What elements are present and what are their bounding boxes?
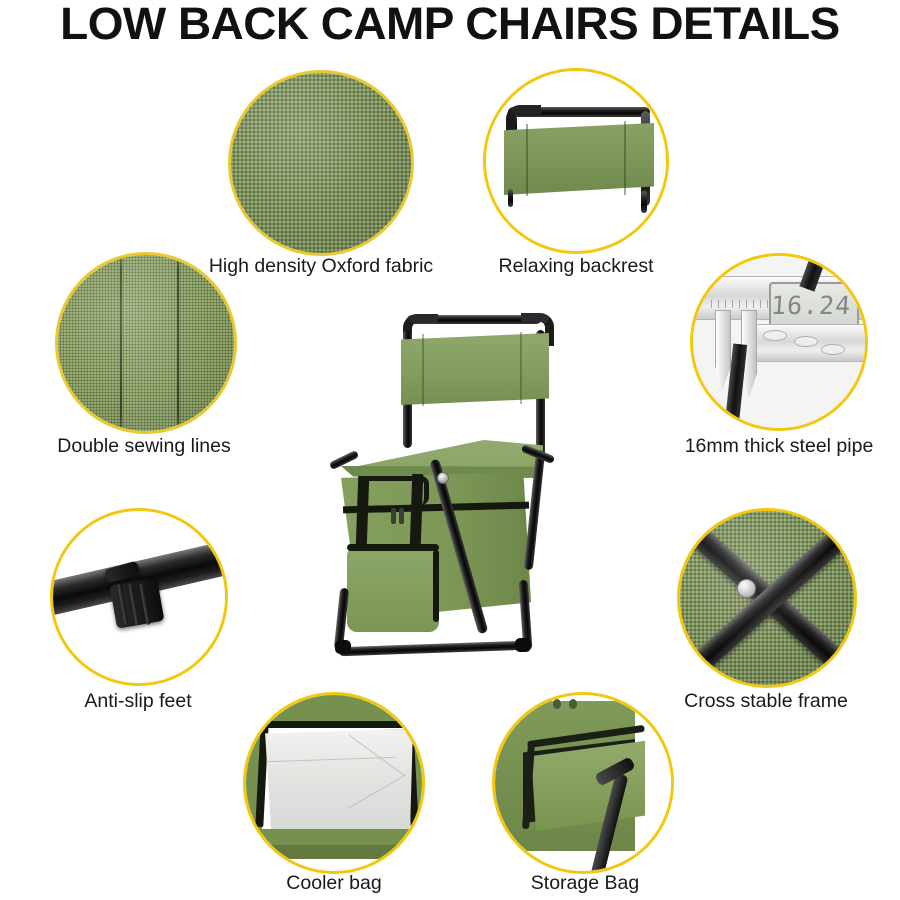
storage-bag-art	[495, 695, 671, 871]
caliper-art: 16.24	[693, 256, 865, 428]
chair-backrest-fold-right	[520, 332, 522, 404]
chair-carry-handle-loop	[361, 476, 429, 505]
callout-anti-slip-feet	[50, 508, 228, 686]
caliper-scale-ticks	[711, 300, 771, 308]
storage-bag-rivet-right	[569, 699, 577, 709]
label-storage-bag: Storage Bag	[385, 872, 785, 895]
cooler-bag-art	[246, 695, 422, 871]
caliper-button-onoff	[821, 344, 845, 355]
backrest-circle	[483, 68, 669, 254]
callout-cross-stable-frame	[677, 508, 857, 688]
callout-high-density-oxford-fabric	[228, 70, 414, 256]
label-double-sewing-lines: Double sewing lines	[0, 435, 344, 458]
anti-slip-art	[53, 511, 225, 683]
backrest-lower-leg-left	[508, 189, 513, 207]
chair-bottom-rail	[339, 641, 525, 656]
sewing-fabric-shading	[58, 255, 234, 431]
chair-front-zip-pocket	[347, 546, 439, 632]
chair-foot-cap-left	[335, 640, 351, 654]
double-sewing-circle	[55, 252, 237, 434]
chair-cross-brace-rivet	[437, 472, 449, 484]
chair-foot-cap-right	[515, 638, 531, 652]
cooler-bag-top-rim	[243, 692, 425, 723]
page-title: LOW BACK CAMP CHAIRS DETAILS	[0, 0, 900, 50]
callout-double-sewing-lines	[55, 252, 237, 434]
cross-frame-circle	[677, 508, 857, 688]
callout-storage-bag	[492, 692, 674, 874]
storage-bag-circle	[492, 692, 674, 874]
chair-backrest-fold-left	[422, 334, 424, 406]
chair-pocket-zipper	[433, 550, 439, 622]
callout-cooler-bag	[243, 692, 425, 874]
cooler-bag-base-shadow	[264, 845, 406, 859]
cooler-bag-insulated-liner	[262, 729, 416, 837]
backrest-art	[486, 71, 666, 251]
infographic-canvas: LOW BACK CAMP CHAIRS DETAILS High densit…	[0, 0, 900, 900]
cross-frame-shading	[680, 511, 854, 685]
anti-slip-circle	[50, 508, 228, 686]
storage-bag-rivet-left	[553, 699, 561, 709]
backrest-fold-line-right	[624, 121, 626, 195]
backrest-fold-line-left	[526, 124, 528, 196]
cooler-bag-zipper-top	[243, 721, 425, 728]
caliper-reading: 16.24	[770, 291, 852, 320]
fabric-swatch-circle	[228, 70, 414, 256]
cooler-bag-circle	[243, 692, 425, 874]
chair-cooler-zipper-pull	[391, 508, 396, 524]
backrest-lower-leg-right	[641, 191, 647, 213]
caliper-button-zero	[763, 330, 787, 341]
product-image-camp-chair	[325, 300, 585, 670]
caliper-circle: 16.24	[690, 253, 868, 431]
callout-16mm-thick-steel-pipe: 16.24	[690, 253, 868, 431]
label-16mm-thick-steel-pipe: 16mm thick steel pipe	[579, 435, 900, 458]
chair-cooler-zipper-pull-2	[399, 508, 404, 524]
callout-relaxing-backrest	[483, 68, 669, 254]
chair-pocket-top-trim	[347, 544, 439, 551]
caliper-button-mode	[794, 336, 818, 347]
fabric-shading	[231, 73, 411, 253]
